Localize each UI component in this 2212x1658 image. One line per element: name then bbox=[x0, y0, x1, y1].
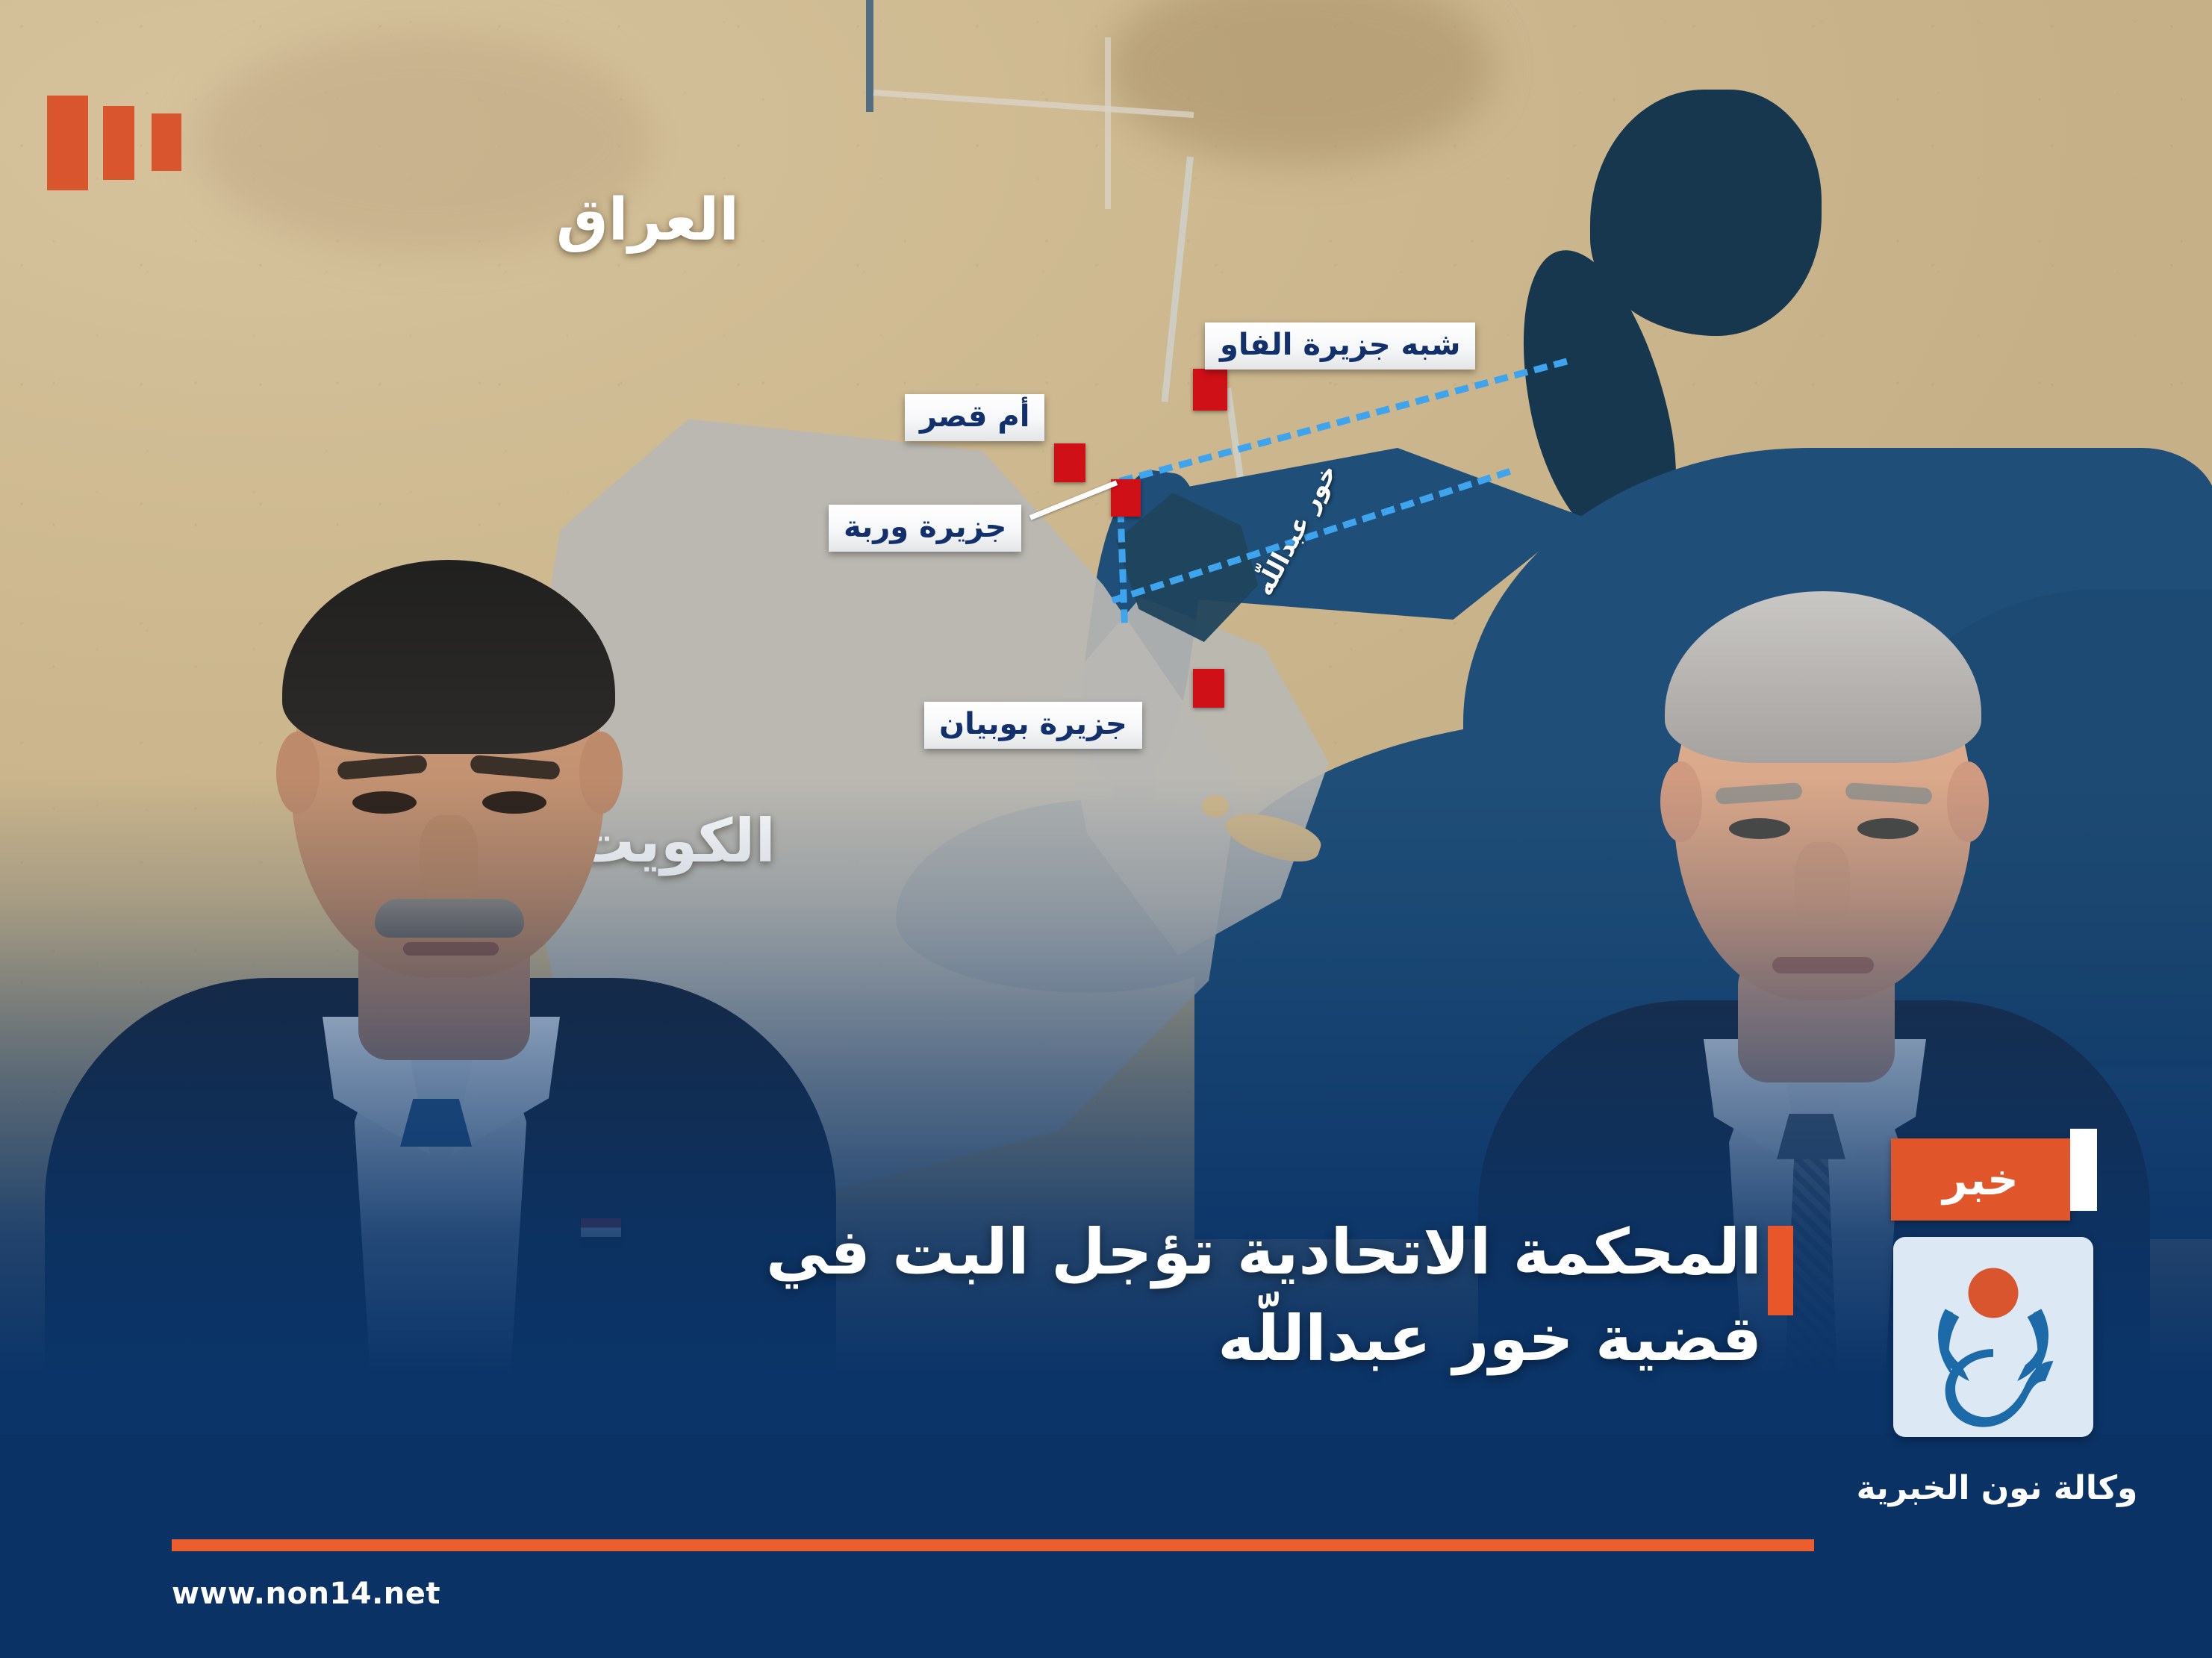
right-eye-l bbox=[1729, 818, 1790, 839]
river-line-1 bbox=[866, 0, 873, 112]
headline-line-2: قضية خور عبداللّه bbox=[134, 1296, 1762, 1383]
map-marker-boubyan bbox=[1193, 669, 1224, 708]
callout-warbah-island[interactable]: جزيرة وربة bbox=[829, 505, 1021, 552]
callout-al-faw-peninsula[interactable]: شبه جزيرة الفاو bbox=[1205, 322, 1475, 370]
headline-accent-bar bbox=[1768, 1226, 1793, 1315]
agency-name: وكالة نون الخبرية bbox=[1822, 1469, 2172, 1507]
headline-line-1: المحكمة الاتحادية تؤجل البت في bbox=[134, 1209, 1762, 1296]
right-nose bbox=[1795, 842, 1850, 930]
right-ear-l bbox=[1660, 761, 1702, 842]
news-badge[interactable]: خبر bbox=[1891, 1138, 2070, 1221]
left-hair bbox=[282, 560, 615, 754]
callout-boubyan-island[interactable]: جزيرة بوبيان bbox=[924, 702, 1142, 749]
right-eye-r bbox=[1857, 818, 1919, 839]
right-ear-r bbox=[1947, 761, 1989, 842]
left-eye-l bbox=[352, 791, 417, 814]
footer-divider bbox=[172, 1539, 1814, 1551]
left-mouth bbox=[403, 942, 499, 956]
corner-bar-3 bbox=[152, 113, 181, 171]
website-url[interactable]: www.non14.net bbox=[172, 1577, 440, 1611]
right-hair bbox=[1665, 591, 1981, 763]
left-nose bbox=[420, 815, 478, 905]
country-label-iraq: العراق bbox=[556, 187, 739, 254]
left-eye-r bbox=[482, 791, 546, 814]
corner-bar-1 bbox=[47, 96, 88, 190]
news-graphic-canvas: خور عبداللّه العراق الكويت شبه جزيرة الف… bbox=[0, 0, 2212, 1658]
right-mouth bbox=[1772, 957, 1874, 973]
left-ear-r bbox=[579, 732, 623, 814]
agency-logo[interactable] bbox=[1893, 1237, 2093, 1437]
noon-news-logo-icon bbox=[1893, 1237, 2093, 1437]
left-moustache bbox=[375, 899, 524, 938]
corner-bar-2 bbox=[103, 106, 134, 180]
sand-islet-2 bbox=[1202, 795, 1229, 817]
map-marker-umm-qasr bbox=[1054, 443, 1085, 482]
callout-umm-qasr[interactable]: أم قصر bbox=[905, 394, 1044, 441]
headline-text: المحكمة الاتحادية تؤجل البت في قضية خور … bbox=[134, 1209, 1762, 1383]
map-marker-al-faw bbox=[1193, 369, 1227, 411]
news-badge-cap bbox=[2070, 1129, 2097, 1211]
left-ear-l bbox=[276, 732, 320, 814]
road-line-2 bbox=[1105, 37, 1111, 209]
